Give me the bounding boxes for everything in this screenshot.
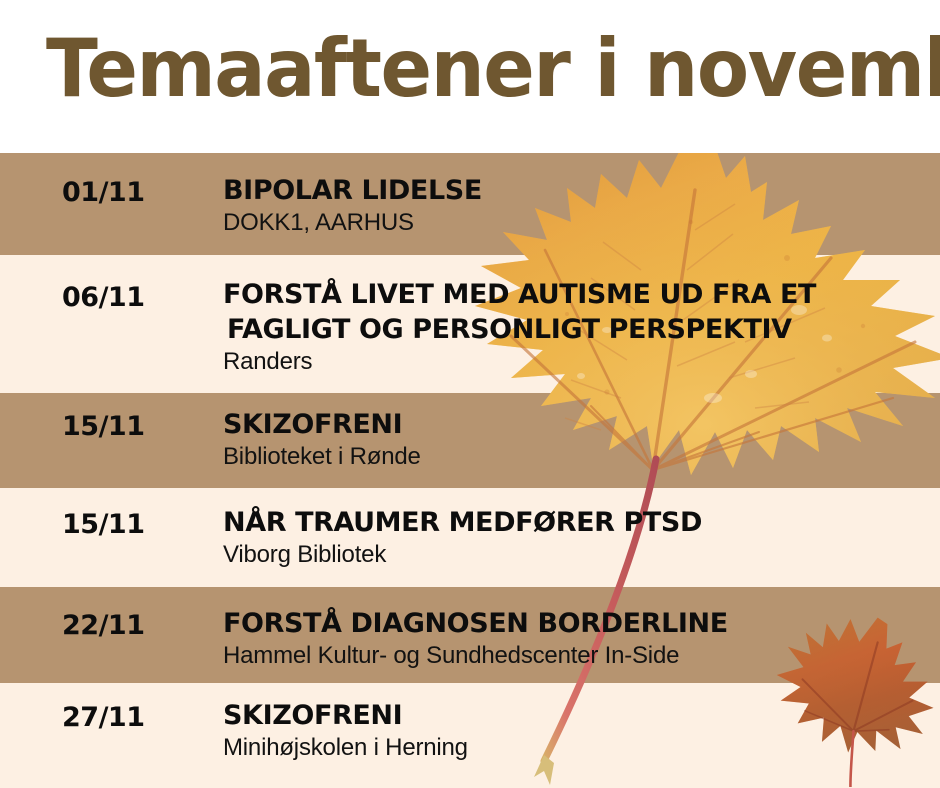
event-place: Biblioteket i Rønde — [223, 442, 930, 472]
event-info: BIPOLAR LIDELSE DOKK1, AARHUS — [223, 173, 930, 238]
title-band: Temaaftener i november — [0, 0, 940, 153]
event-info: NÅR TRAUMER MEDFØRER PTSD Viborg Bibliot… — [223, 505, 930, 570]
schedule-row[interactable]: 01/11 BIPOLAR LIDELSE DOKK1, AARHUS — [0, 153, 940, 255]
event-title: BIPOLAR LIDELSE — [223, 173, 930, 208]
event-date: 15/11 — [62, 411, 145, 443]
event-info: FORSTÅ LIVET MED AUTISME UD FRA ET FAGLI… — [223, 277, 930, 377]
event-title: SKIZOFRENI — [223, 698, 930, 733]
schedule-row[interactable]: 06/11 FORSTÅ LIVET MED AUTISME UD FRA ET… — [0, 255, 940, 393]
event-date: 15/11 — [62, 509, 145, 541]
schedule-row[interactable]: 27/11 SKIZOFRENI Minihøjskolen i Herning — [0, 683, 940, 788]
event-date: 22/11 — [62, 610, 145, 642]
event-title: NÅR TRAUMER MEDFØRER PTSD — [223, 505, 930, 540]
event-title-line2: FAGLIGT OG PERSONLIGT PERSPEKTIV — [223, 312, 930, 347]
schedule-row[interactable]: 22/11 FORSTÅ DIAGNOSEN BORDERLINE Hammel… — [0, 587, 940, 683]
schedule-row[interactable]: 15/11 SKIZOFRENI Biblioteket i Rønde — [0, 393, 940, 488]
poster-canvas: 01/11 BIPOLAR LIDELSE DOKK1, AARHUS 06/1… — [0, 0, 940, 788]
event-date: 27/11 — [62, 702, 145, 734]
event-info: SKIZOFRENI Minihøjskolen i Herning — [223, 698, 930, 763]
schedule-row[interactable]: 15/11 NÅR TRAUMER MEDFØRER PTSD Viborg B… — [0, 488, 940, 587]
event-title: FORSTÅ DIAGNOSEN BORDERLINE — [223, 606, 930, 641]
page-title: Temaaftener i november — [46, 24, 940, 114]
event-place: Randers — [223, 347, 930, 377]
event-title-line1: FORSTÅ LIVET MED AUTISME UD FRA ET — [223, 279, 816, 310]
event-place: Minihøjskolen i Herning — [223, 733, 930, 763]
event-place: Viborg Bibliotek — [223, 540, 930, 570]
event-title: SKIZOFRENI — [223, 407, 930, 442]
event-date: 06/11 — [62, 282, 145, 314]
event-info: SKIZOFRENI Biblioteket i Rønde — [223, 407, 930, 472]
event-date: 01/11 — [62, 177, 145, 209]
event-place: DOKK1, AARHUS — [223, 208, 930, 238]
event-title: FORSTÅ LIVET MED AUTISME UD FRA ET FAGLI… — [223, 277, 930, 347]
event-place: Hammel Kultur- og Sundhedscenter In-Side — [223, 641, 930, 671]
event-info: FORSTÅ DIAGNOSEN BORDERLINE Hammel Kultu… — [223, 606, 930, 671]
